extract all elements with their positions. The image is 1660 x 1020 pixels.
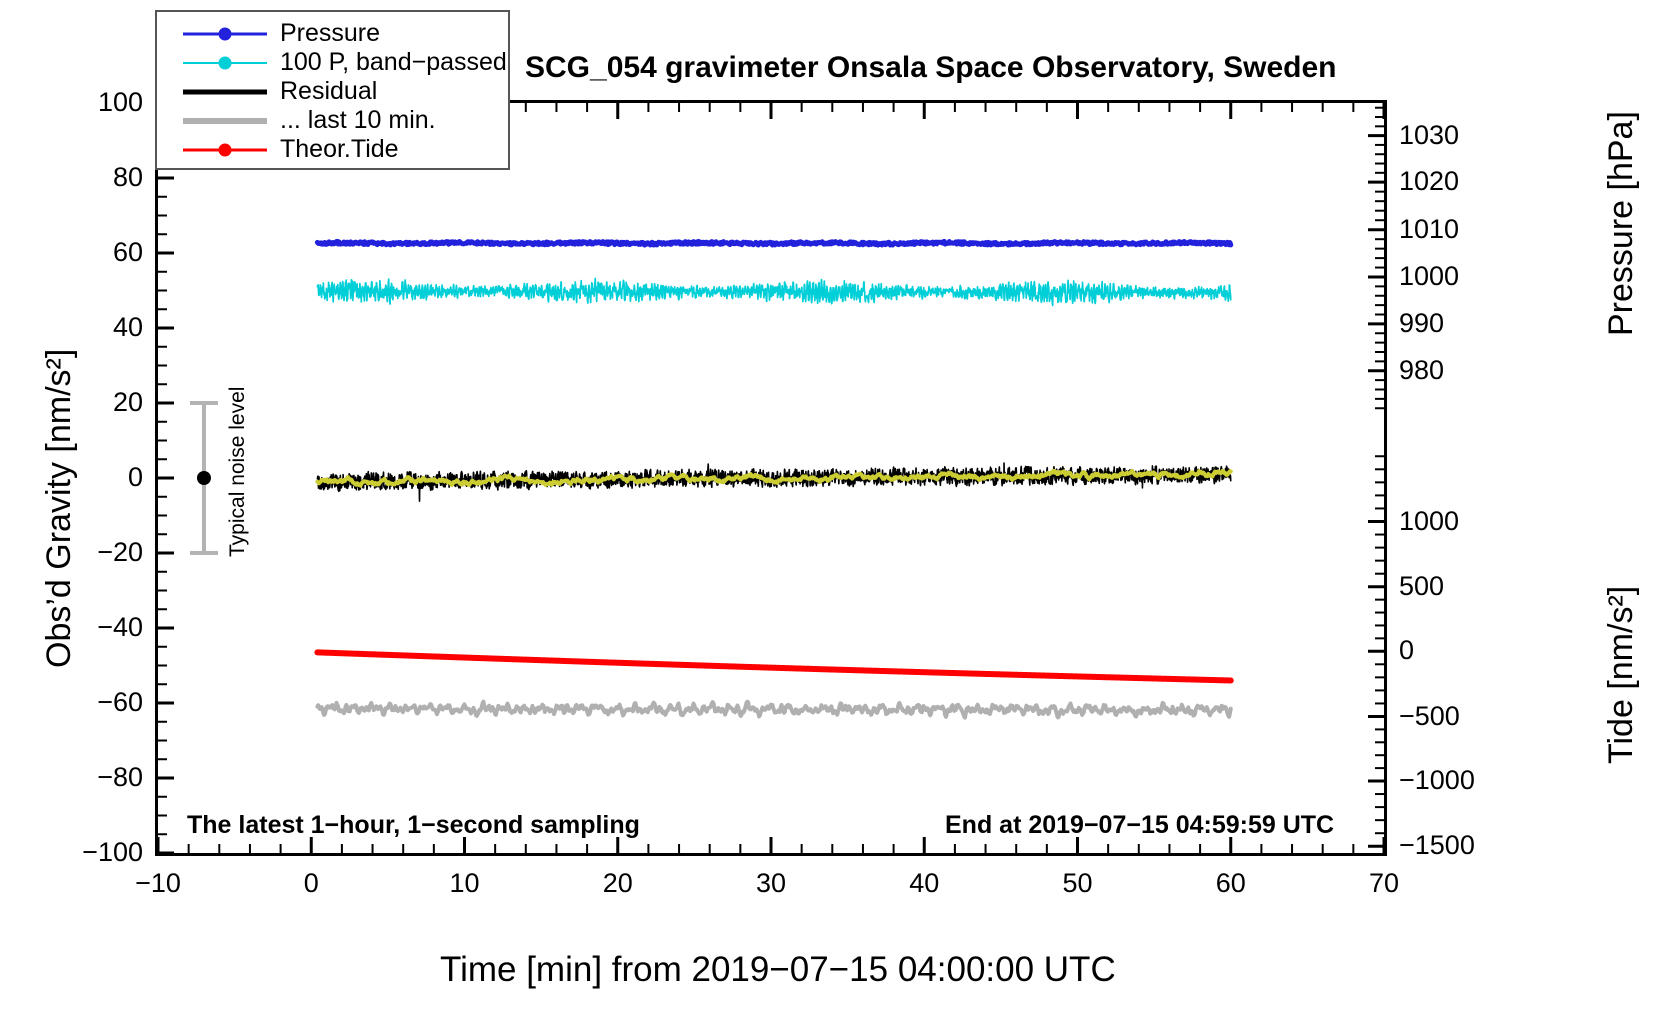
y-axis-right-tide-title: Tide [nm/s²] [1602,586,1641,764]
x-axis-tick-label: 20 [558,870,678,897]
figure-canvas: SCG_054 gravimeter Onsala Space Observat… [0,0,1660,1020]
x-axis-tick-label: 60 [1171,870,1291,897]
series-theor-tide [317,652,1230,680]
y-axis-right-tide-tick-label: −500 [1399,703,1509,730]
legend-swatch-2 [183,48,267,77]
y-axis-left-tick-label: 80 [25,164,143,191]
x-axis-tick-label: −10 [98,870,218,897]
legend: Pressure100 P, band−passedResidual... la… [155,10,510,170]
y-axis-left-tick-label: 60 [25,239,143,266]
legend-swatch-3 [183,77,267,106]
y-axis-right-pressure-tick-label: 1030 [1399,122,1509,149]
legend-swatch-5 [183,135,267,164]
x-axis-tick-label: 10 [405,870,525,897]
x-axis-tick-label: 50 [1018,870,1138,897]
series-band-passed [317,278,1230,305]
y-axis-right-ticks [1368,108,1384,847]
y-axis-left-tick-label: 40 [25,314,143,341]
y-axis-right-pressure-title: Pressure [hPa] [1602,111,1641,336]
y-axis-right-pressure-tick-label: 990 [1399,310,1509,337]
legend-item: ... last 10 min. [157,106,508,135]
y-axis-left-ticks [158,103,174,853]
legend-swatch-4 [183,106,267,135]
legend-item-label: Residual [267,77,377,106]
y-axis-right-tide-tick-label: −1500 [1399,832,1509,859]
series-pressure [317,241,1230,245]
plot-svg [158,103,1384,853]
legend-item-label: 100 P, band−passed [267,48,507,77]
y-axis-right-tide-tick-label: 0 [1399,637,1509,664]
y-axis-right-tide-tick-label: −1000 [1399,767,1509,794]
annotation-noise-level: Typical noise level [226,387,250,557]
x-axis-tick-label: 0 [251,870,371,897]
legend-item-label: ... last 10 min. [267,106,436,135]
y-axis-left-title: Obs’d Gravity [nm/s²] [40,349,79,668]
annotation-bottom-right: End at 2019−07−15 04:59:59 UTC [945,811,1334,840]
x-axis-tick-label: 70 [1324,870,1444,897]
y-axis-right-tide-tick-label: 500 [1399,573,1509,600]
noise-level-dot [197,471,211,485]
chart-title: SCG_054 gravimeter Onsala Space Observat… [525,51,1337,85]
plot-area [155,100,1387,856]
y-axis-right-pressure-tick-label: 1020 [1399,168,1509,195]
legend-item-label: Theor.Tide [267,135,399,164]
annotation-bottom-left: The latest 1−hour, 1−second sampling [187,811,640,840]
y-axis-right-pressure-tick-label: 980 [1399,357,1509,384]
series-last-10-min [317,702,1230,718]
y-axis-right-pressure-tick-label: 1000 [1399,263,1509,290]
y-axis-left-tick-label: −60 [25,689,143,716]
y-axis-left-tick-label: −80 [25,764,143,791]
y-axis-right-tide-tick-label: 1000 [1399,508,1509,535]
legend-item: Theor.Tide [157,135,508,164]
x-axis-tick-label: 30 [711,870,831,897]
legend-swatch-1 [183,19,267,48]
x-axis-title: Time [min] from 2019−07−15 04:00:00 UTC [440,950,1116,990]
legend-item: 100 P, band−passed [157,48,508,77]
legend-item: Residual [157,77,508,106]
y-axis-left-tick-label: 100 [25,89,143,116]
x-axis-tick-label: 40 [864,870,984,897]
legend-item: Pressure [157,19,508,48]
y-axis-left-tick-label: −100 [25,839,143,866]
y-axis-right-pressure-tick-label: 1010 [1399,216,1509,243]
legend-item-label: Pressure [267,19,380,48]
